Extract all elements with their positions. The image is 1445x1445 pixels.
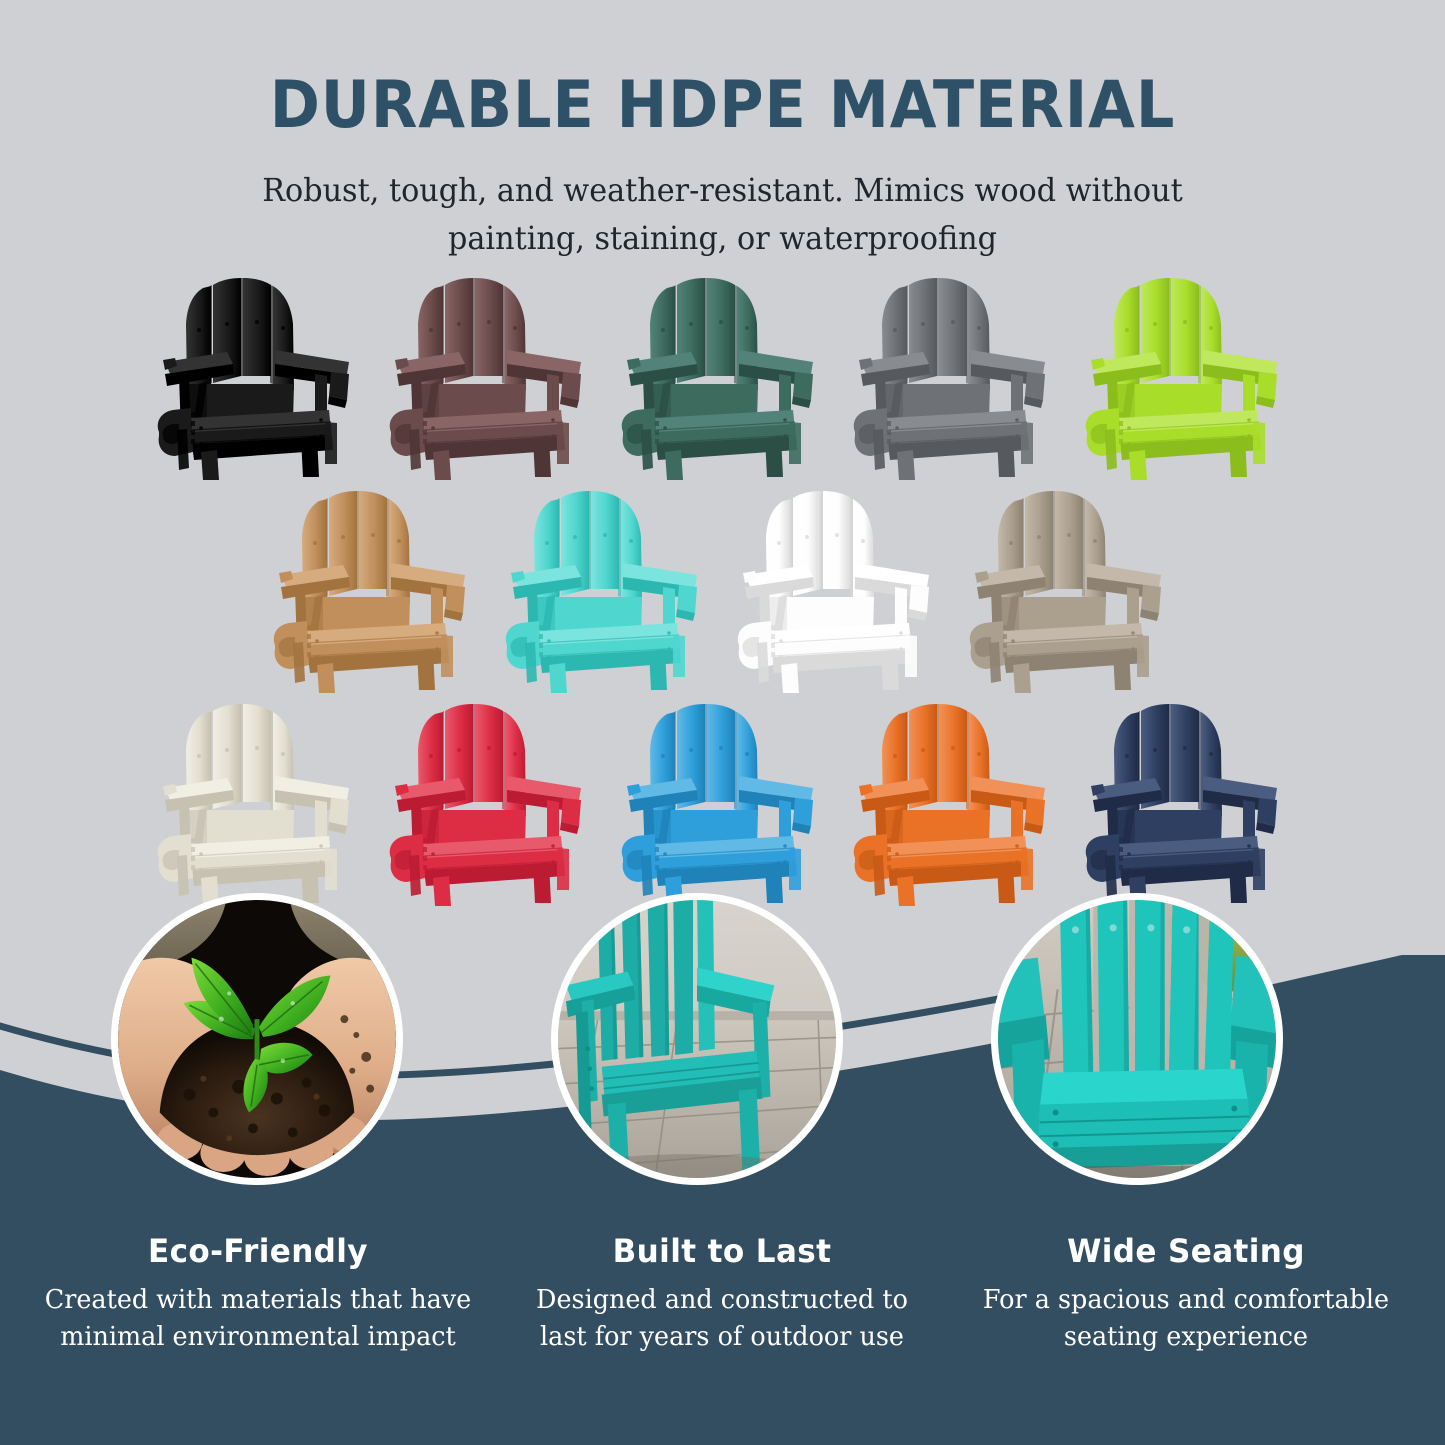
feature-body: Designed and constructed to last for yea… — [506, 1282, 938, 1355]
chair-swatch-lime-green[interactable] — [1071, 272, 1303, 490]
chair-swatch-brown[interactable] — [375, 272, 607, 490]
adirondack-chair-svg — [617, 272, 829, 482]
feature-body: Created with materials that have minimal… — [42, 1282, 474, 1355]
feature-body-line-2: last for years of outdoor use — [506, 1319, 938, 1356]
subtitle-line-1: Robust, tough, and weather-resistant. Mi… — [29, 168, 1416, 216]
adirondack-chair-svg — [733, 485, 945, 695]
adirondack-chair-svg — [1081, 698, 1293, 908]
chair-row-2 — [0, 485, 1445, 703]
turquoise-chair-seat-closeup-photo — [991, 893, 1283, 1185]
feature-heading: Built to Last — [504, 1232, 941, 1270]
feature-body-line-1: For a spacious and comfortable — [970, 1282, 1402, 1319]
chair-swatch-forest-green[interactable] — [607, 272, 839, 490]
page-subtitle: Robust, tough, and weather-resistant. Mi… — [29, 168, 1416, 264]
adirondack-chair-svg — [501, 485, 713, 695]
chair-swatch-teak[interactable] — [259, 485, 491, 703]
adirondack-chair-svg — [849, 272, 1061, 482]
page-title: DURABLE HDPE MATERIAL — [51, 72, 1395, 140]
chair-swatch-ivory[interactable] — [143, 698, 375, 916]
adirondack-chair-svg — [385, 272, 597, 482]
chair-row-3 — [0, 698, 1445, 916]
header-block: DURABLE HDPE MATERIAL Robust, tough, and… — [0, 0, 1445, 264]
chair-swatch-navy-blue[interactable] — [1071, 698, 1303, 916]
feature-body-line-1: Designed and constructed to — [506, 1282, 938, 1319]
feature-wide-seating: Wide Seating For a spacious and comforta… — [961, 1232, 1411, 1355]
feature-body-line-2: minimal environmental impact — [42, 1319, 474, 1356]
chair-color-grid — [0, 272, 1445, 916]
feature-built-to-last: Built to Last Designed and constructed t… — [497, 1232, 947, 1355]
adirondack-chair-svg — [965, 485, 1177, 695]
turquoise-chair-patio-photo — [551, 893, 843, 1185]
chair-swatch-white[interactable] — [723, 485, 955, 703]
hands-holding-seedling-photo — [111, 893, 403, 1185]
subtitle-line-2: painting, staining, or waterproofing — [29, 216, 1416, 264]
feature-heading: Wide Seating — [968, 1232, 1405, 1270]
adirondack-chair-svg — [153, 272, 365, 482]
chair-swatch-red[interactable] — [375, 698, 607, 916]
feature-body-line-1: Created with materials that have — [42, 1282, 474, 1319]
feature-body-line-2: seating experience — [970, 1319, 1402, 1356]
adirondack-chair-svg — [153, 698, 365, 908]
chair-swatch-blue[interactable] — [607, 698, 839, 916]
chair-swatch-orange[interactable] — [839, 698, 1071, 916]
chair-swatch-turquoise[interactable] — [491, 485, 723, 703]
adirondack-chair-svg — [617, 698, 829, 908]
feature-heading: Eco-Friendly — [40, 1232, 477, 1270]
adirondack-chair-svg — [385, 698, 597, 908]
chair-swatch-weathered-wood[interactable] — [955, 485, 1187, 703]
adirondack-chair-svg — [849, 698, 1061, 908]
chair-swatch-black[interactable] — [143, 272, 375, 490]
chair-swatch-gray[interactable] — [839, 272, 1071, 490]
feature-body: For a spacious and comfortable seating e… — [970, 1282, 1402, 1355]
feature-eco-friendly: Eco-Friendly Created with materials that… — [33, 1232, 483, 1355]
adirondack-chair-svg — [1081, 272, 1293, 482]
chair-row-1 — [0, 272, 1445, 490]
adirondack-chair-svg — [269, 485, 481, 695]
